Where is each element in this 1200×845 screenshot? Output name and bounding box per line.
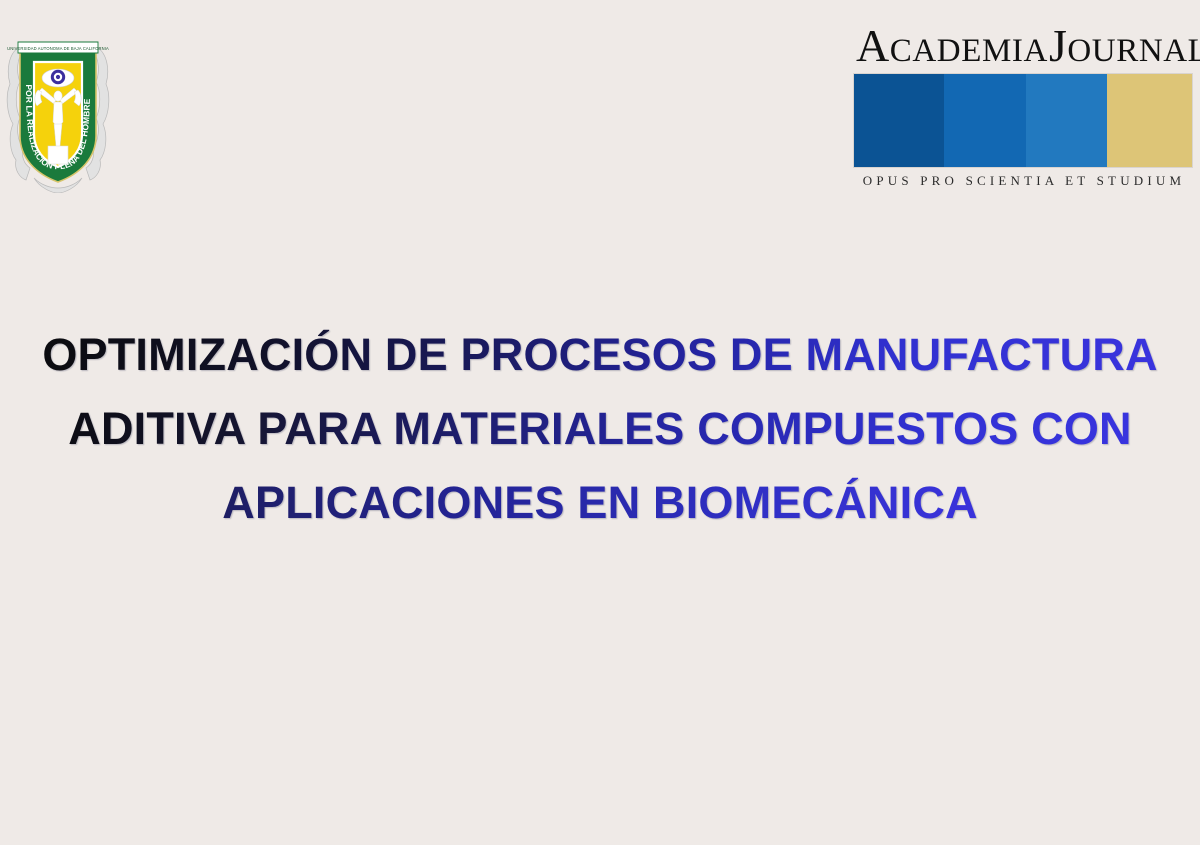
academia-journals-logo: ACADEMIAJOURNALS OPUS PRO SCIENTIA ET ST… (850, 16, 1195, 186)
bar-dark-blue (854, 74, 944, 167)
uabc-logo: UNIVERSIDAD AUTONOMA DE BAJA CALIFORNIA … (4, 18, 112, 193)
uabc-top-band-text: UNIVERSIDAD AUTONOMA DE BAJA CALIFORNIA (7, 46, 109, 51)
wordmark-journals-cap: J (1049, 20, 1067, 71)
wordmark-academia-rest: CADEMIA (890, 33, 1048, 69)
bar-medium-blue (944, 74, 1027, 167)
title-line-2: ADITIVA PARA MATERIALES COMPUESTOS CON (0, 392, 1200, 466)
academia-journals-color-bars (853, 73, 1193, 168)
slide-canvas: UNIVERSIDAD AUTONOMA DE BAJA CALIFORNIA … (0, 0, 1200, 845)
title-line-1: OPTIMIZACIÓN DE PROCESOS DE MANUFACTURA (0, 318, 1200, 392)
academia-journals-tagline: OPUS PRO SCIENTIA ET STUDIUM (854, 173, 1194, 189)
slide-title: OPTIMIZACIÓN DE PROCESOS DE MANUFACTURA … (0, 318, 1200, 540)
wordmark-journals: JOURNALS (1048, 26, 1200, 68)
bar-gold (1107, 74, 1192, 167)
wordmark-academia: ACADEMIA (856, 26, 1048, 68)
wordmark-academia-cap: A (856, 20, 890, 71)
academia-journals-wordmark: ACADEMIAJOURNALS (850, 16, 1195, 68)
wordmark-journals-rest: OURNALS (1067, 33, 1200, 69)
bar-light-blue (1026, 74, 1107, 167)
title-line-3: APLICACIONES EN BIOMECÁNICA (0, 466, 1200, 540)
